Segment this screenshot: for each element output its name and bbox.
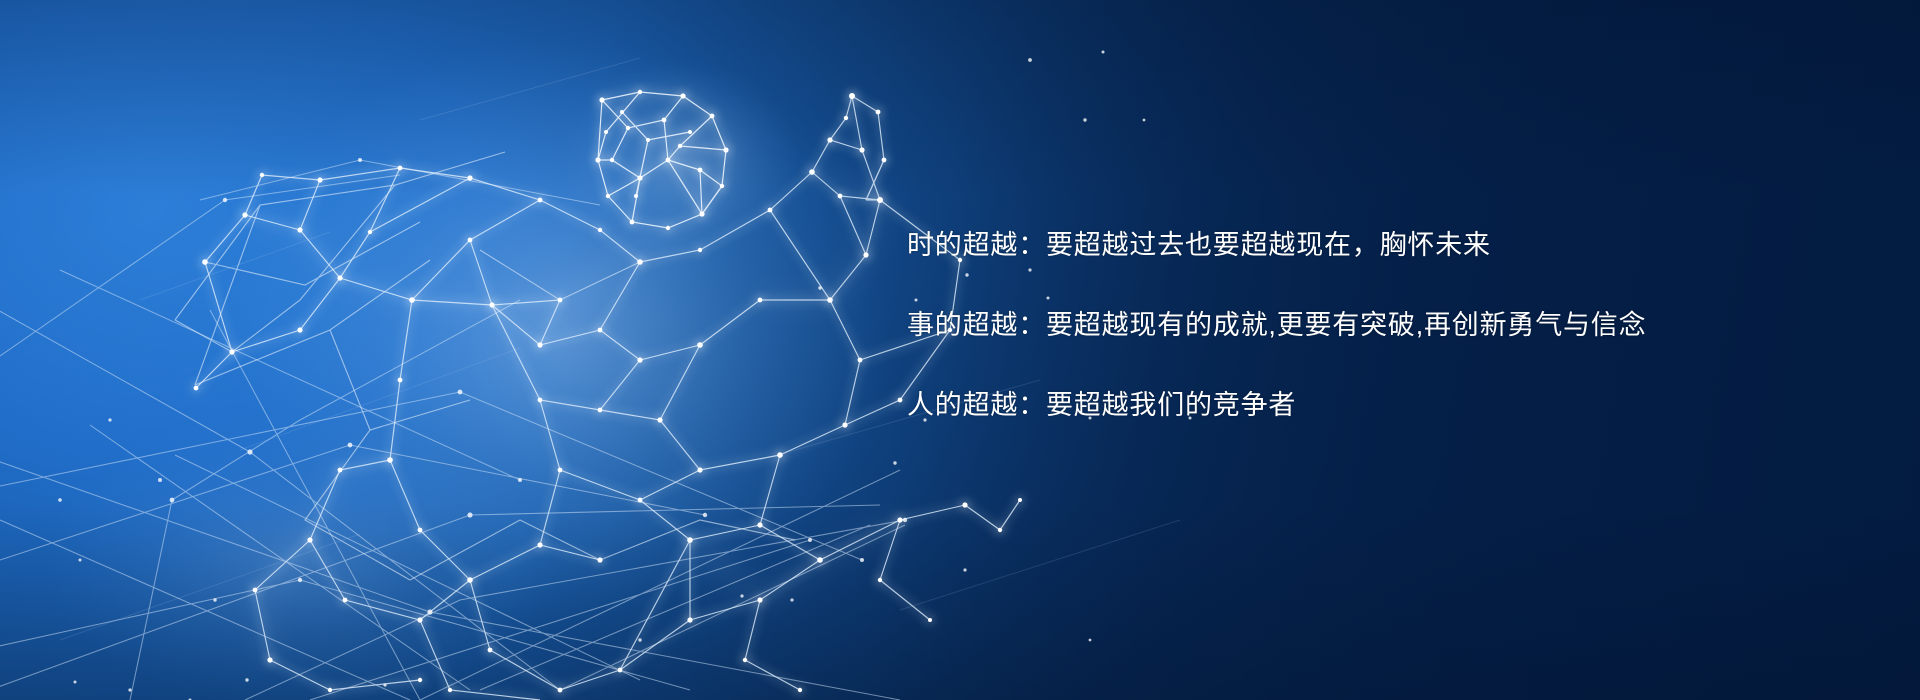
slogan-text-block: 时的超越：要超越过去也要超越现在，胸怀未来 事的超越：要超越现有的成就,更要有突… xyxy=(907,232,1807,419)
slogan-line-people: 人的超越：要超越我们的竞争者 xyxy=(907,392,1807,419)
slogan-line-time: 时的超越：要超越过去也要超越现在，胸怀未来 xyxy=(907,232,1807,259)
slogan-line-matter: 事的超越：要超越现有的成就,更要有突破,再创新勇气与信念 xyxy=(907,312,1807,339)
banner-stage: 时的超越：要超越过去也要超越现在，胸怀未来 事的超越：要超越现有的成就,更要有突… xyxy=(0,0,1920,700)
